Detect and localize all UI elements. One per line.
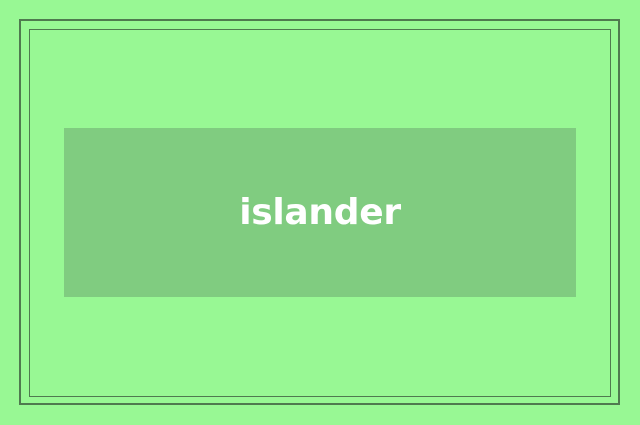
panel-title: islander (239, 195, 401, 231)
content-panel: islander (64, 128, 576, 297)
page-canvas: islander (0, 0, 640, 425)
